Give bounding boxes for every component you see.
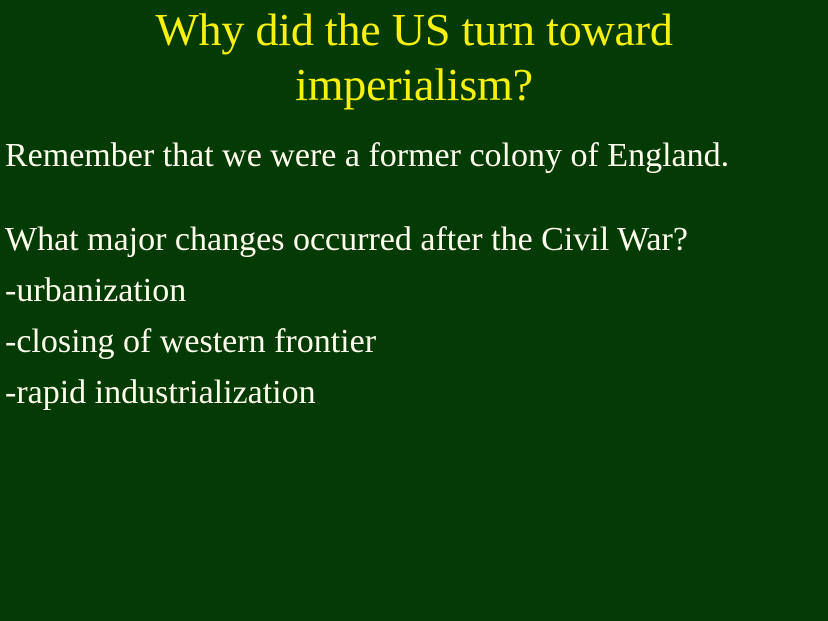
slide-title-line-2: imperialism?: [0, 57, 828, 112]
body-paragraph-civil-war-question: What major changes occurred after the Ci…: [5, 214, 823, 265]
slide-title-line-1: Why did the US turn toward: [0, 2, 828, 57]
body-paragraph-colony-note: Remember that we were a former colony of…: [5, 130, 823, 181]
slide-body: Remember that we were a former colony of…: [5, 130, 823, 418]
presentation-slide: Why did the US turn toward imperialism? …: [0, 0, 828, 621]
bullet-item-closing-frontier: -closing of western frontier: [5, 316, 823, 367]
slide-title: Why did the US turn toward imperialism?: [0, 0, 828, 112]
bullet-item-urbanization: -urbanization: [5, 265, 823, 316]
bullet-item-rapid-industrialization: -rapid industrialization: [5, 367, 823, 418]
